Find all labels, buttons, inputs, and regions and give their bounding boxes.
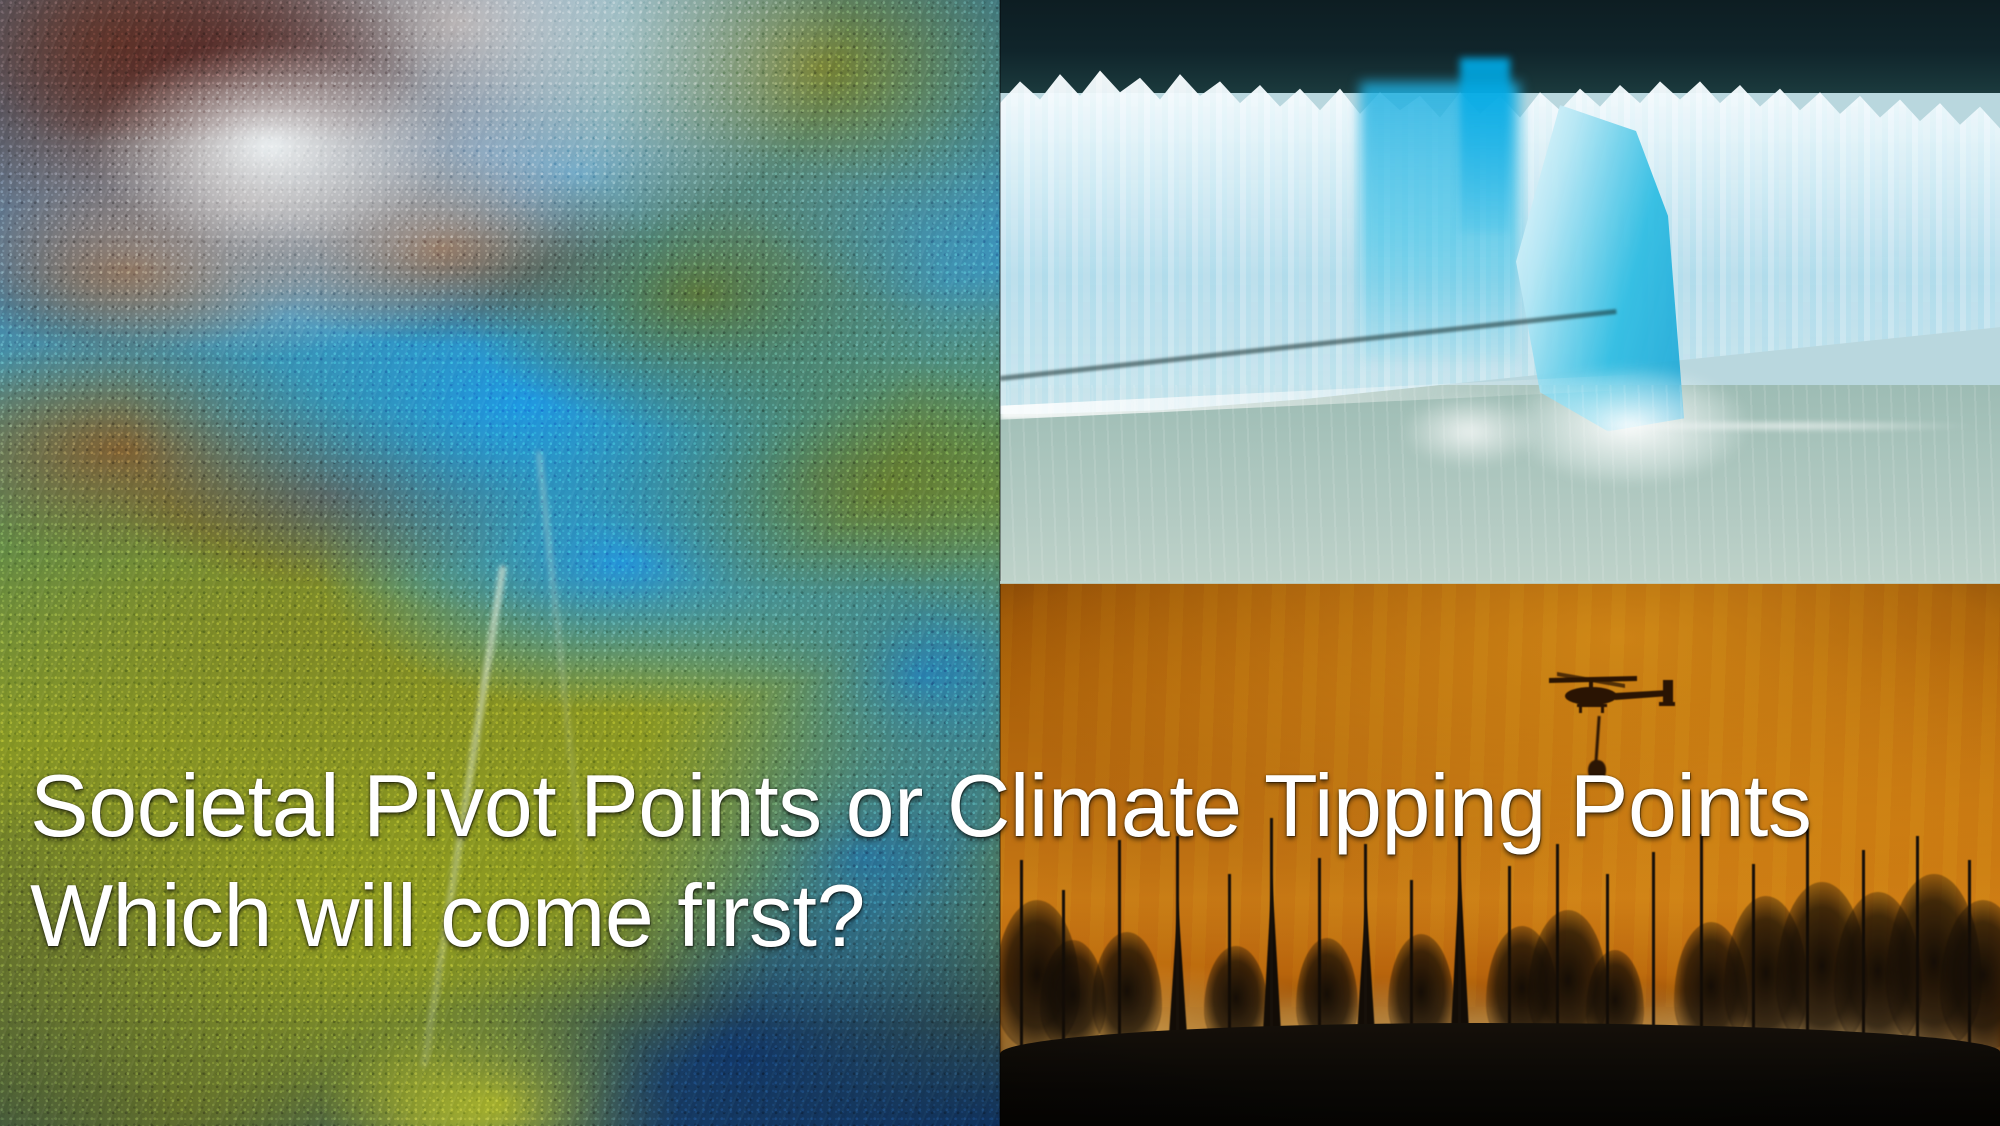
image-panel-wildfire (1000, 583, 2000, 1126)
water-bucket-icon (1588, 760, 1606, 782)
glacier-foam-line (1580, 421, 1980, 431)
panel-divider-vertical (999, 0, 1001, 1126)
image-panel-glacier-calving (1000, 0, 2000, 583)
title-slide: Societal Pivot Points or Climate Tipping… (0, 0, 2000, 1126)
image-panel-aerial-wetland (0, 0, 1000, 1126)
glacier-deep-blue-fissure (1460, 58, 1510, 233)
wetland-vignette (0, 0, 1000, 1126)
wildfire-vignette (1000, 583, 2000, 1126)
helicopter-icon (1545, 662, 1675, 724)
glacier-water-ripples (1000, 385, 2000, 583)
panel-divider-horizontal (1000, 581, 2000, 584)
